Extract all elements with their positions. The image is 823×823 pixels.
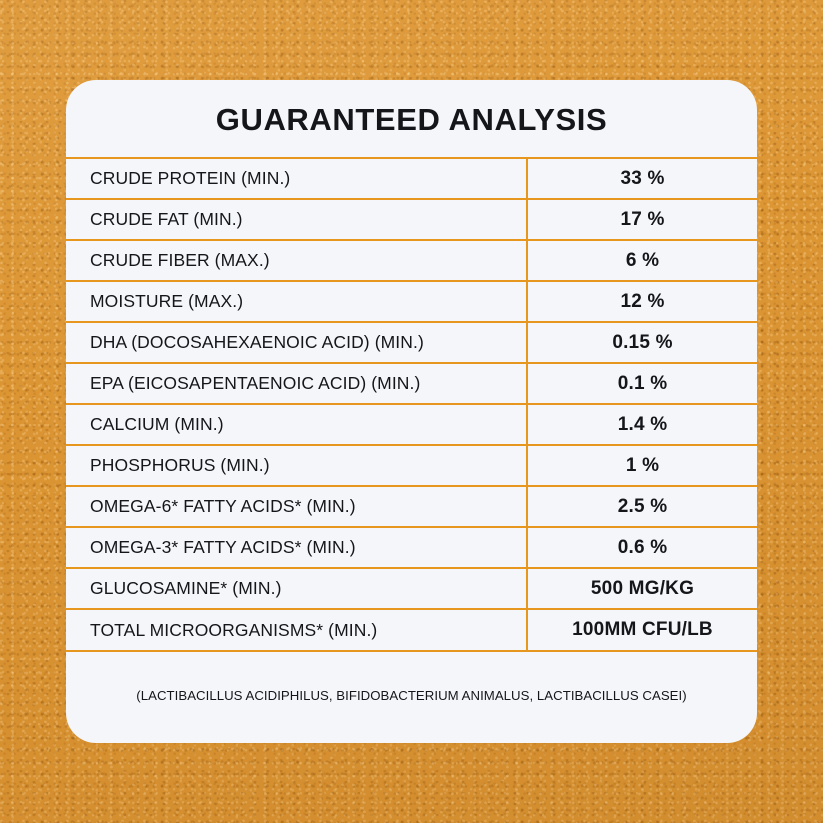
table-row: MOISTURE (MAX.)12 % (66, 281, 757, 322)
nutrient-value: 33 % (527, 158, 757, 199)
nutrient-label: PHOSPHORUS (MIN.) (66, 445, 527, 486)
nutrient-value: 0.6 % (527, 527, 757, 568)
footnote-text: (LACTIBACILLUS ACIDIPHILUS, BIFIDOBACTER… (66, 652, 757, 703)
nutrient-value: 1 % (527, 445, 757, 486)
table-row: DHA (DOCOSAHEXAENOIC ACID) (MIN.)0.15 % (66, 322, 757, 363)
nutrient-label: CRUDE FAT (MIN.) (66, 199, 527, 240)
nutrient-value: 0.15 % (527, 322, 757, 363)
nutrient-value: 17 % (527, 199, 757, 240)
guaranteed-analysis-table: CRUDE PROTEIN (MIN.)33 %CRUDE FAT (MIN.)… (66, 157, 757, 650)
nutrient-label: CRUDE FIBER (MAX.) (66, 240, 527, 281)
nutrient-label: GLUCOSAMINE* (MIN.) (66, 568, 527, 609)
nutrient-label: TOTAL MICROORGANISMS* (MIN.) (66, 609, 527, 650)
table-row: CRUDE PROTEIN (MIN.)33 % (66, 158, 757, 199)
table-row: PHOSPHORUS (MIN.)1 % (66, 445, 757, 486)
page-title: GUARANTEED ANALYSIS (66, 80, 757, 138)
table-row: OMEGA-6* FATTY ACIDS* (MIN.)2.5 % (66, 486, 757, 527)
nutrient-value: 500 MG/KG (527, 568, 757, 609)
nutrient-value: 1.4 % (527, 404, 757, 445)
nutrient-label: OMEGA-3* FATTY ACIDS* (MIN.) (66, 527, 527, 568)
nutrient-label: MOISTURE (MAX.) (66, 281, 527, 322)
nutrient-label: OMEGA-6* FATTY ACIDS* (MIN.) (66, 486, 527, 527)
nutrient-value: 2.5 % (527, 486, 757, 527)
table-row: CRUDE FIBER (MAX.)6 % (66, 240, 757, 281)
nutrient-label: CALCIUM (MIN.) (66, 404, 527, 445)
table-row: CRUDE FAT (MIN.)17 % (66, 199, 757, 240)
nutrient-value: 0.1 % (527, 363, 757, 404)
guaranteed-analysis-card: GUARANTEED ANALYSIS CRUDE PROTEIN (MIN.)… (66, 80, 757, 743)
nutrient-value: 100MM CFU/LB (527, 609, 757, 650)
nutrient-value: 12 % (527, 281, 757, 322)
nutrient-label: EPA (EICOSAPENTAENOIC ACID) (MIN.) (66, 363, 527, 404)
nutrient-label: DHA (DOCOSAHEXAENOIC ACID) (MIN.) (66, 322, 527, 363)
nutrient-label: CRUDE PROTEIN (MIN.) (66, 158, 527, 199)
table-row: CALCIUM (MIN.)1.4 % (66, 404, 757, 445)
table-row: GLUCOSAMINE* (MIN.)500 MG/KG (66, 568, 757, 609)
table-row: EPA (EICOSAPENTAENOIC ACID) (MIN.)0.1 % (66, 363, 757, 404)
table-row: TOTAL MICROORGANISMS* (MIN.)100MM CFU/LB (66, 609, 757, 650)
table-row: OMEGA-3* FATTY ACIDS* (MIN.)0.6 % (66, 527, 757, 568)
nutrient-value: 6 % (527, 240, 757, 281)
